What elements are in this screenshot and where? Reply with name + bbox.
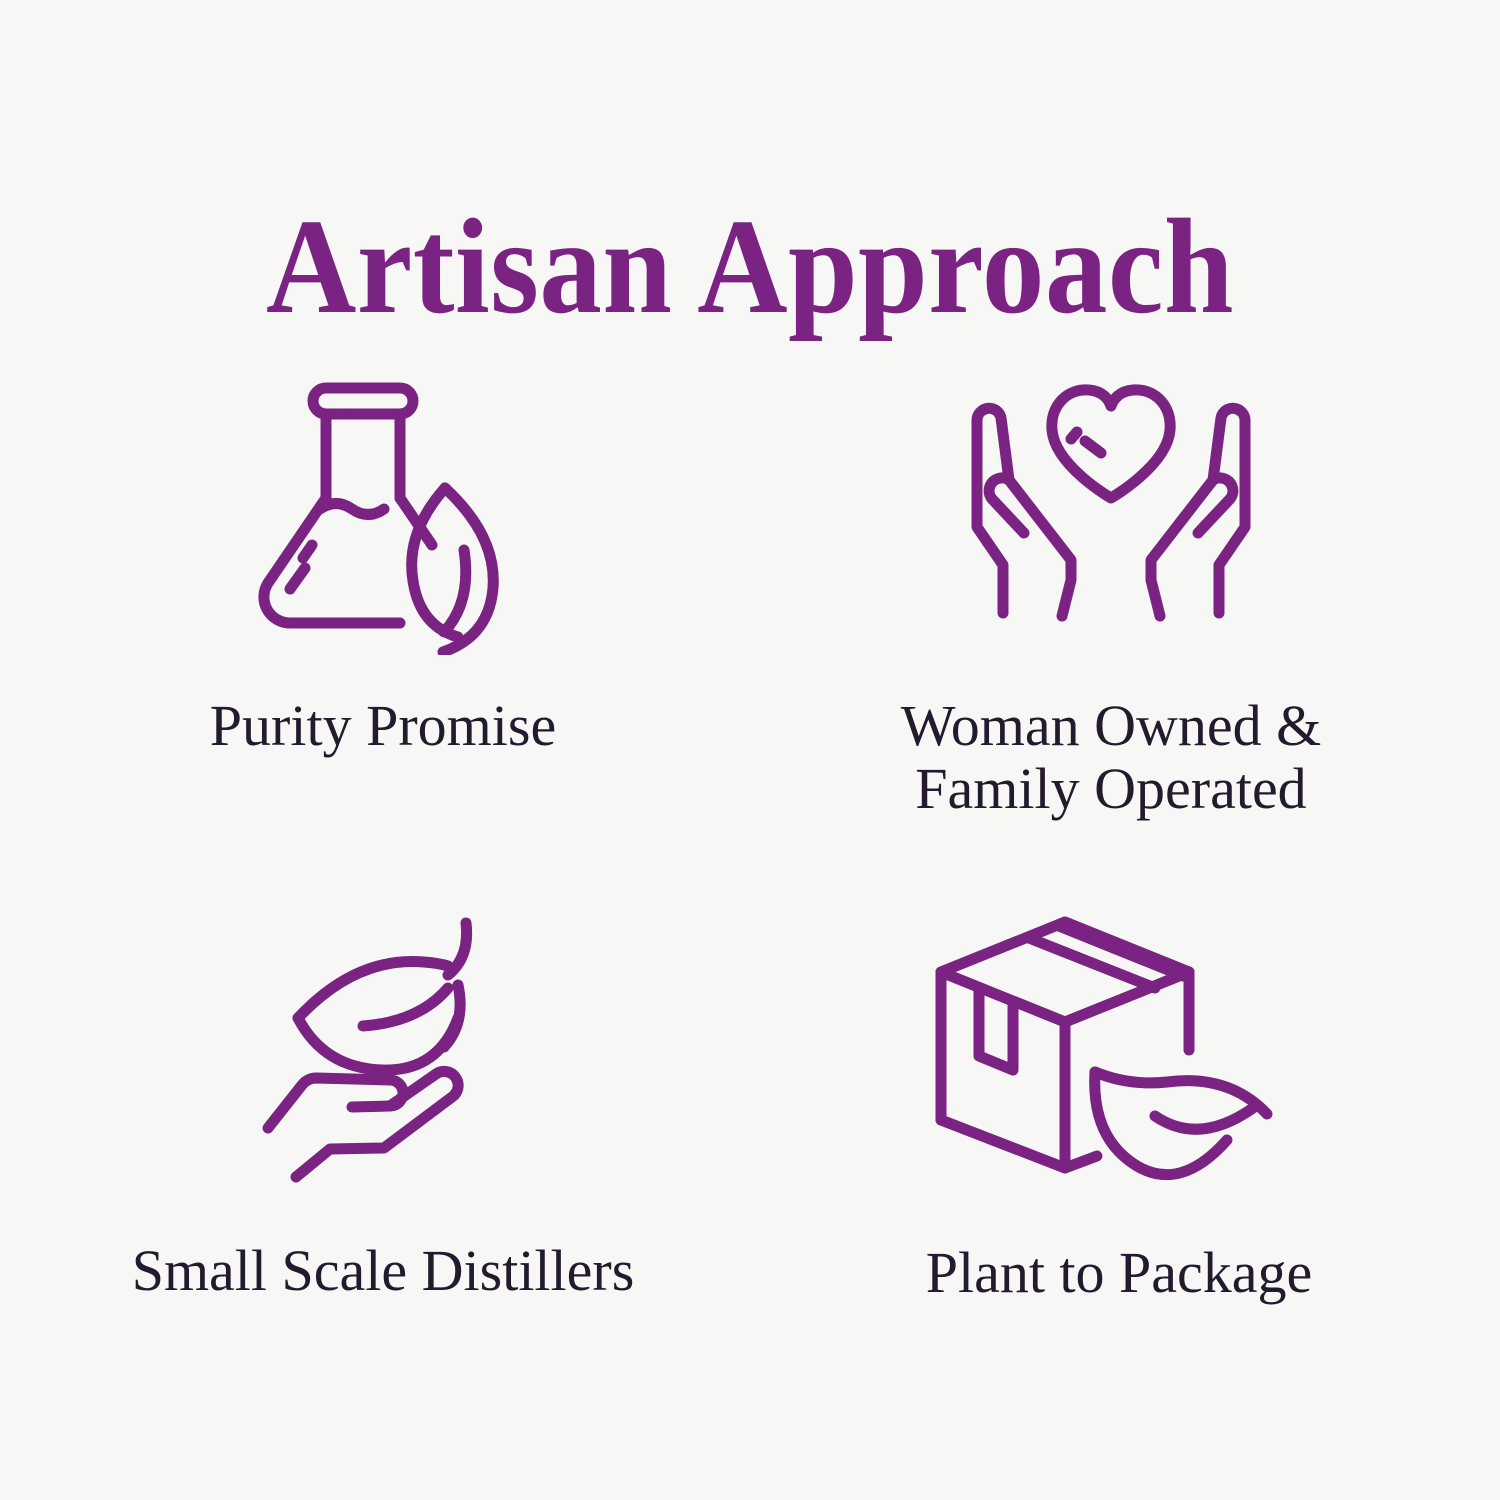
box-leaf-icon-wrap [919,900,1319,1200]
feature-item-plant-to-package: Plant to Package [750,860,1500,1365]
page-title: Artisan Approach [60,199,1440,335]
feature-label: Purity Promise [210,695,556,758]
feature-label: Plant to Package [926,1242,1313,1305]
feature-label: Woman Owned & Family Operated [901,695,1322,820]
flask-leaf-icon [248,355,518,655]
feature-item-purity-promise: Purity Promise [0,355,750,860]
feature-item-woman-owned: Woman Owned & Family Operated [750,355,1500,860]
flask-leaf-icon-wrap [248,355,518,655]
leaf-in-hand-icon [258,913,508,1183]
hands-holding-heart-icon-wrap [951,355,1271,655]
feature-grid: Purity Promise [0,355,1500,1365]
box-leaf-icon [919,910,1319,1190]
leaf-in-hand-icon-wrap [258,898,508,1198]
hands-holding-heart-icon [951,370,1271,640]
feature-label: Small Scale Distillers [132,1240,635,1303]
artisan-approach-panel: Artisan Approach [0,0,1500,1500]
feature-item-small-scale-distillers: Small Scale Distillers [0,860,750,1365]
